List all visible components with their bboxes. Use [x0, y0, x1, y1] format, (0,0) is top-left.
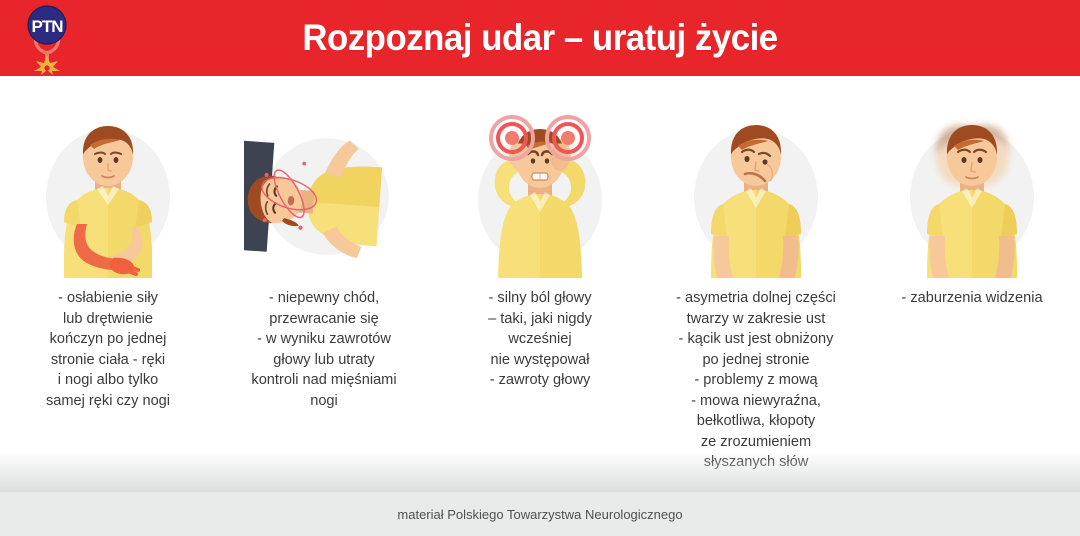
person-falling-dizzy-icon	[244, 102, 404, 278]
symptom-caption: - niepewny chód, przewracanie się - w wy…	[221, 288, 427, 411]
header-bar: PTN Rozpoznaj udar – uratuj życie	[0, 0, 1080, 76]
person-arm-weakness-icon	[28, 102, 188, 278]
symptom-caption: - osłabienie siły lub drętwienie kończyn…	[5, 288, 211, 411]
symptom-column-face-droop: - asymetria dolnej części twarzy w zakre…	[648, 76, 864, 473]
pain-circle-right	[547, 117, 589, 159]
person-headache-icon	[460, 102, 620, 278]
page-title: Rozpoznaj udar – uratuj życie	[32, 17, 1047, 59]
symptom-column-unsteady-gait: - niepewny chód, przewracanie się - w wy…	[216, 76, 432, 411]
person-blurred-vision-icon	[892, 102, 1052, 278]
pain-circle-left	[491, 117, 533, 159]
footer-credit: materiał Polskiego Towarzystwa Neurologi…	[397, 507, 682, 522]
symptom-caption: - silny ból głowy – taki, jaki nigdy wcz…	[445, 288, 635, 391]
symptom-caption: - asymetria dolnej części twarzy w zakre…	[653, 288, 859, 473]
symptom-column-arm-weakness: - osłabienie siły lub drętwienie kończyn…	[0, 76, 216, 411]
footer-bar: materiał Polskiego Towarzystwa Neurologi…	[0, 492, 1080, 536]
poster-root: PTN Rozpoznaj udar – uratuj życie	[0, 0, 1080, 536]
symptom-caption: - zaburzenia widzenia	[869, 288, 1075, 309]
symptom-columns: - osłabienie siły lub drętwienie kończyn…	[0, 76, 1080, 492]
footer-gradient	[0, 452, 1080, 492]
person-face-droop-icon	[676, 102, 836, 278]
symptom-column-headache: - silny ból głowy – taki, jaki nigdy wcz…	[432, 76, 648, 391]
symptom-column-vision: - zaburzenia widzenia	[864, 76, 1080, 309]
